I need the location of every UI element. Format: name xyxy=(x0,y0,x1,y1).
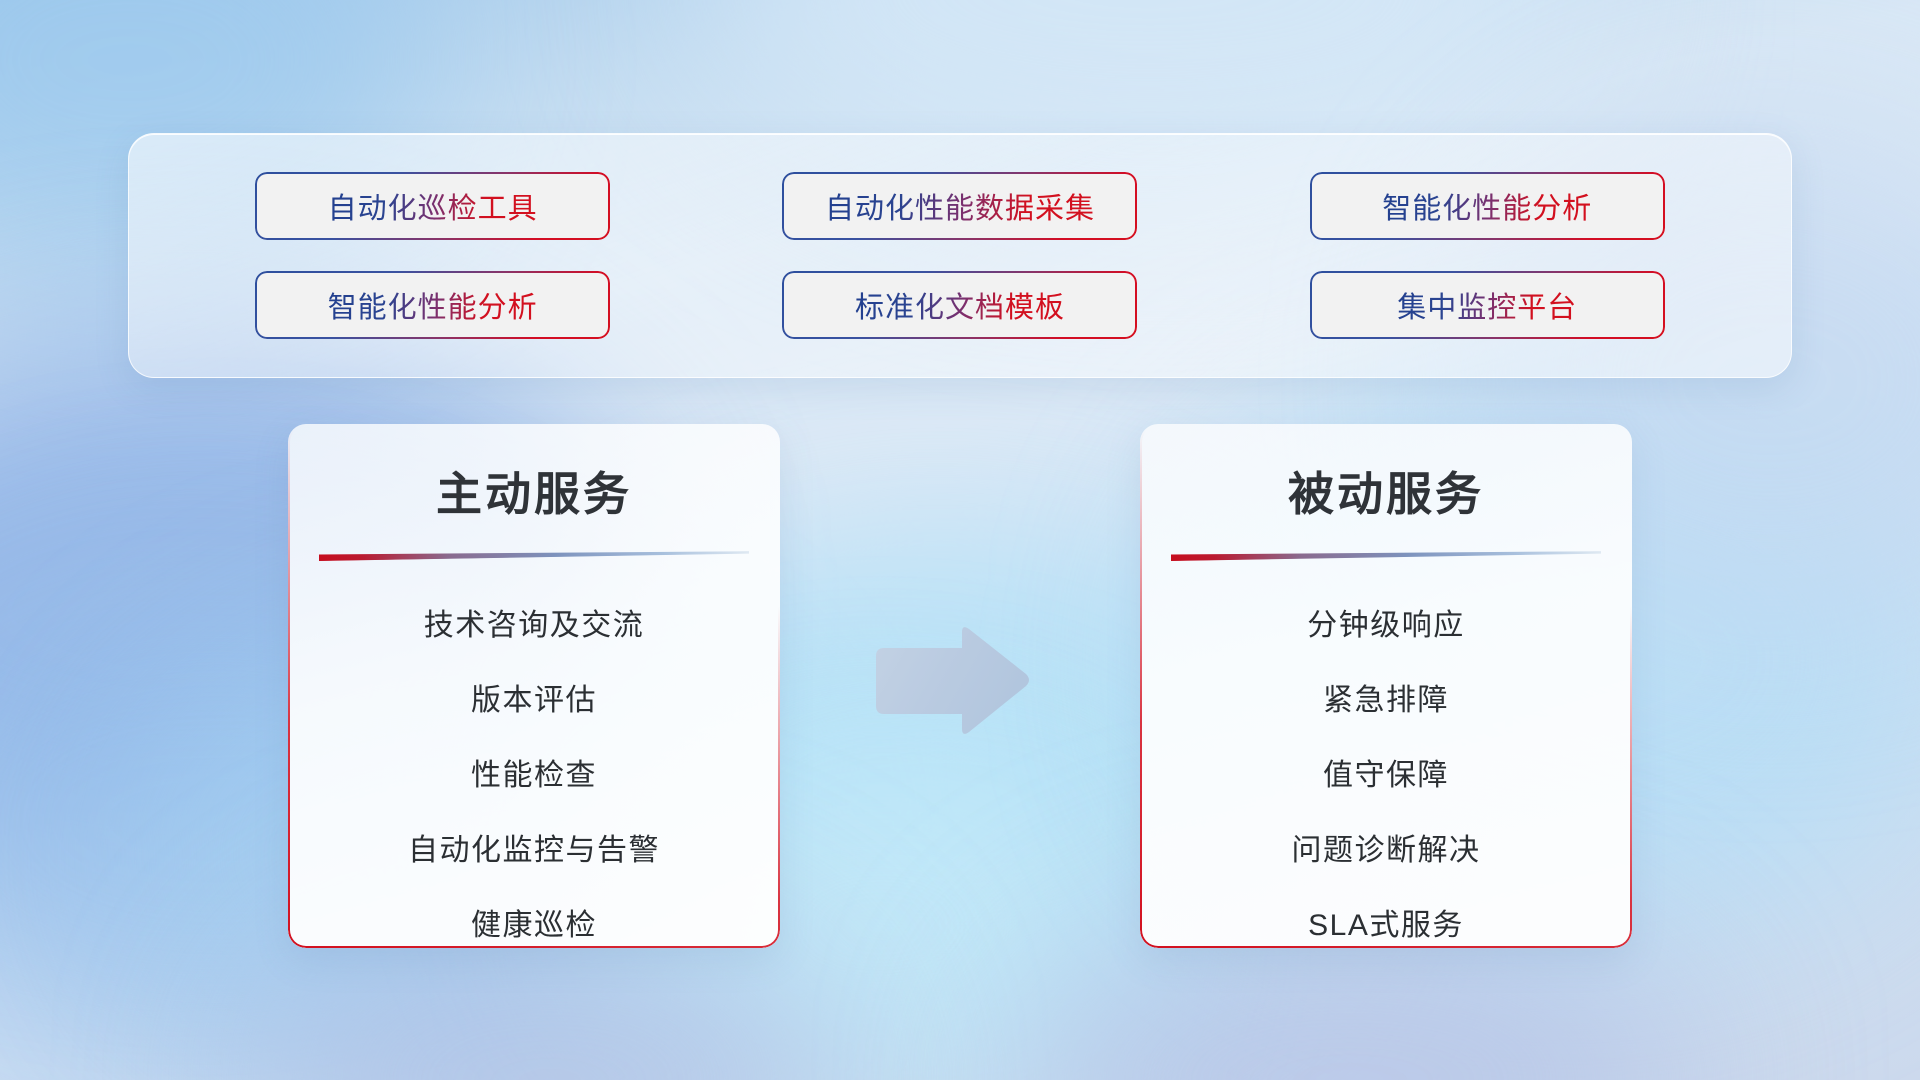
capability-tag-2[interactable]: 自动化性能数据采集 xyxy=(782,172,1137,240)
capability-tag-label: 智能化性能分析 xyxy=(1382,185,1592,227)
capability-tag-5[interactable]: 标准化文档模板 xyxy=(782,271,1137,339)
capability-tag-label: 智能化性能分析 xyxy=(328,284,538,326)
service-item: 紧急排障 xyxy=(1140,672,1632,730)
service-item: 性能检查 xyxy=(288,747,780,805)
capability-tag-label: 自动化性能数据采集 xyxy=(825,185,1095,227)
capability-tag-4[interactable]: 智能化性能分析 xyxy=(255,271,610,339)
service-card-reactive: 被动服务 分钟级响应 紧急排障 xyxy=(1140,424,1632,948)
right-arrow-icon xyxy=(866,622,1034,740)
capability-tag-label: 集中监控平台 xyxy=(1397,284,1577,326)
service-item-list: 分钟级响应 紧急排障 值守保障 问题诊断解决 SLA式服务 xyxy=(1140,597,1632,948)
service-item-list: 技术咨询及交流 版本评估 性能检查 自动化监控与告警 健康巡检 xyxy=(288,597,780,948)
service-item: 版本评估 xyxy=(288,672,780,730)
title-underline-accent xyxy=(1171,550,1601,561)
capability-tag-3[interactable]: 智能化性能分析 xyxy=(1310,172,1665,240)
service-item: SLA式服务 xyxy=(1140,897,1632,948)
service-item: 技术咨询及交流 xyxy=(288,597,780,655)
card-title: 主动服务 xyxy=(288,458,780,524)
service-item: 分钟级响应 xyxy=(1140,597,1632,655)
title-underline-accent xyxy=(319,550,749,561)
capability-tag-label: 自动化巡检工具 xyxy=(328,185,538,227)
capability-tag-label: 标准化文档模板 xyxy=(855,284,1065,326)
capability-tags-panel: 自动化巡检工具 自动化性能数据采集 智能化性能分析 智能化性能分析 标准化文档模… xyxy=(128,133,1792,378)
capability-tag-1[interactable]: 自动化巡检工具 xyxy=(255,172,610,240)
service-card-proactive: 主动服务 技术咨询及交流 版本评估 xyxy=(288,424,780,948)
capability-tag-6[interactable]: 集中监控平台 xyxy=(1310,271,1665,339)
slide-canvas: 自动化巡检工具 自动化性能数据采集 智能化性能分析 智能化性能分析 标准化文档模… xyxy=(0,0,1920,1080)
service-item: 问题诊断解决 xyxy=(1140,822,1632,880)
service-item: 自动化监控与告警 xyxy=(288,822,780,880)
service-item: 健康巡检 xyxy=(288,897,780,948)
service-item: 值守保障 xyxy=(1140,747,1632,805)
card-title: 被动服务 xyxy=(1140,458,1632,524)
